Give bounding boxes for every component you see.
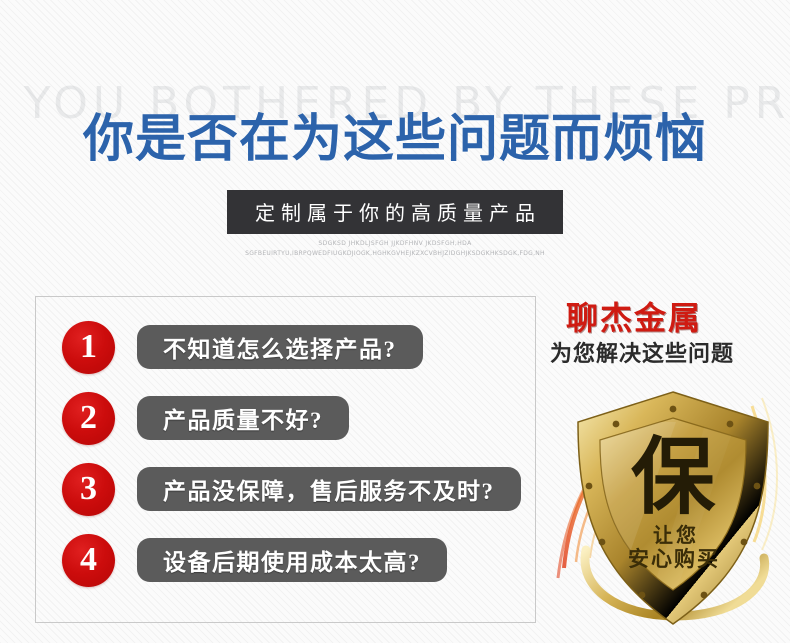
micro-filler-line-1: SDGKSD JHKDLJSFGH JJKDFHNV JKDSFGH,HDA [0,239,790,249]
list-item: 1 不知道怎么选择产品? [36,319,535,375]
problem-label: 产品没保障，售后服务不及时? [137,467,521,511]
problem-label: 产品质量不好? [137,396,349,440]
brand-tagline: 为您解决这些问题 [550,339,790,369]
page-title: 你是否在为这些问题而烦恼 [0,110,790,168]
gold-shield-graphic: 保 让您 安心购买 [556,382,790,634]
list-item: 2 产品质量不好? [36,390,535,446]
list-item: 4 设备后期使用成本太高? [36,532,535,588]
shield-caption-line-1: 让您 [653,523,699,547]
brand-block: 聊杰金属 为您解决这些问题 [548,300,790,369]
micro-filler-line-2: SGFBEUIRTYU,IBRPQWEDFIUGKDJIOGK,HGHKGVHE… [0,249,790,259]
number-badge: 2 [62,392,115,445]
brand-name: 聊杰金属 [566,300,790,336]
number-badge: 1 [62,321,115,374]
problem-label: 不知道怎么选择产品? [137,325,423,369]
promo-banner: E YOU BOTHERED BY THESE PROBLE 你是否在为这些问题… [0,0,790,643]
number-badge: 4 [62,534,115,587]
shield-caption-line-2: 安心购买 [628,547,720,571]
problem-label: 设备后期使用成本太高? [137,538,447,582]
micro-filler-text: SDGKSD JHKDLJSFGH JJKDFHNV JKDSFGH,HDA S… [0,239,790,259]
list-item: 3 产品没保障，售后服务不及时? [36,461,535,517]
number-badge: 3 [62,463,115,516]
subtitle-badge: 定制属于你的高质量产品 [227,190,563,234]
shield-center-glyph: 保 [631,432,716,525]
problem-list-box: 1 不知道怎么选择产品? 2 产品质量不好? 3 产品没保障，售后服务不及时? … [35,296,536,623]
